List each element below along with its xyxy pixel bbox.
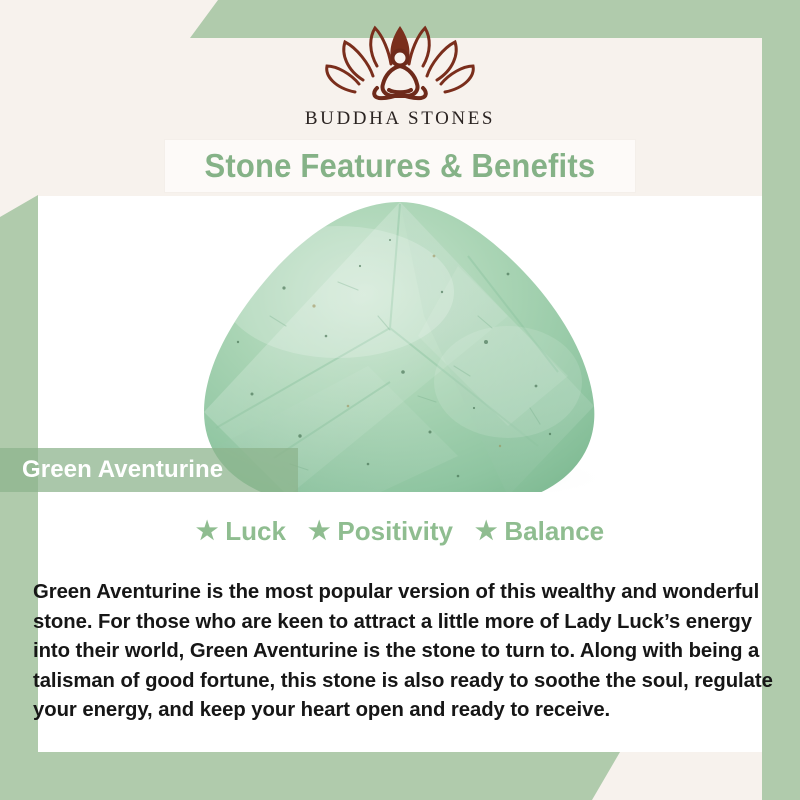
benefit-label: Luck (225, 516, 286, 547)
lotus-meditation-figure-icon (315, 18, 485, 104)
page-title: Stone Features & Benefits (205, 147, 596, 185)
star-icon: ★ (475, 519, 497, 544)
decor-band-bottom (0, 752, 620, 800)
logo-lockup: BUDDHA STONES (305, 18, 495, 130)
benefit-label: Positivity (337, 516, 453, 547)
stone-name-label: Green Aventurine (22, 456, 223, 484)
benefit-label: Balance (504, 516, 604, 547)
brand-name: BUDDHA STONES (305, 108, 495, 130)
title-banner: Stone Features & Benefits (165, 140, 635, 192)
benefit-item-balance: ★ Balance (475, 516, 604, 547)
star-icon: ★ (196, 519, 218, 544)
benefit-item-luck: ★ Luck (196, 516, 286, 547)
benefit-item-positivity: ★ Positivity (308, 516, 453, 547)
benefits-row: ★ Luck ★ Positivity ★ Balance (38, 516, 762, 547)
stone-name-bar: Green Aventurine (0, 448, 298, 492)
star-icon: ★ (308, 519, 330, 544)
stone-description: Green Aventurine is the most popular ver… (33, 578, 778, 726)
